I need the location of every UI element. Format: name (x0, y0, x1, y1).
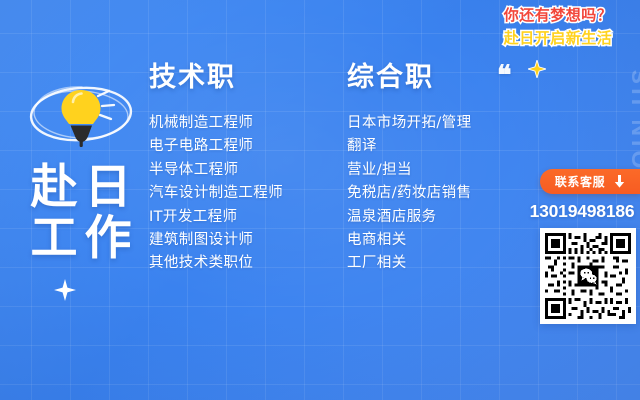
list-item: 机械制造工程师 (149, 112, 283, 135)
arrow-down-icon (614, 175, 625, 188)
list-item: 免税店/药妆店销售 (347, 182, 472, 205)
brand-title-line-2: 工作 (16, 213, 146, 264)
brand-block: 赴日 工作 (16, 78, 146, 264)
sparkle-white-icon (54, 279, 76, 301)
join-us-watermark: JOIN US (627, 65, 640, 185)
list-item: 其他技术类职位 (149, 252, 283, 275)
column-general: 综合职 日本市场开拓/管理 翻译 营业/担当 免税店/药妆店销售 温泉酒店服务 … (347, 62, 472, 276)
contact-panel: 联系客服 13019498186 (528, 169, 640, 324)
poster-canvas: JOIN US 你还有梦想吗？ 赴日开启新生活 ❝ (0, 0, 640, 400)
column-technical-heading: 技术职 (149, 62, 283, 93)
list-item: 工厂相关 (347, 252, 472, 275)
column-general-list: 日本市场开拓/管理 翻译 营业/担当 免税店/药妆店销售 温泉酒店服务 电商相关… (347, 112, 472, 276)
sparkle-yellow-icon (528, 60, 546, 78)
list-item: 电商相关 (347, 229, 472, 252)
slogan-line-2: 赴日开启新生活 (488, 28, 628, 48)
brand-title-line-1: 赴日 (16, 162, 146, 213)
list-item: 半导体工程师 (149, 159, 283, 182)
lightbulb-icon (20, 78, 142, 150)
list-item: 翻译 (347, 135, 472, 158)
list-item: 汽车设计制造工程师 (149, 182, 283, 205)
list-item: IT开发工程师 (149, 206, 283, 229)
page-title: 赴日 工作 (16, 162, 146, 264)
list-item: 营业/担当 (347, 159, 472, 182)
contact-service-button[interactable]: 联系客服 (540, 169, 640, 194)
contact-service-label: 联系客服 (555, 173, 605, 190)
column-general-heading: 综合职 (347, 62, 472, 93)
slogan-block: 你还有梦想吗？ 赴日开启新生活 (488, 5, 628, 48)
quote-mark-icon: ❝ (497, 60, 513, 91)
list-item: 建筑制图设计师 (149, 229, 283, 252)
slogan-line-1: 你还有梦想吗？ (488, 5, 628, 25)
qr-code-wechat[interactable] (540, 228, 636, 324)
contact-phone-number: 13019498186 (528, 201, 636, 222)
list-item: 电子电路工程师 (149, 135, 283, 158)
list-item: 日本市场开拓/管理 (347, 112, 472, 135)
list-item: 温泉酒店服务 (347, 206, 472, 229)
column-technical: 技术职 机械制造工程师 电子电路工程师 半导体工程师 汽车设计制造工程师 IT开… (149, 62, 283, 276)
column-technical-list: 机械制造工程师 电子电路工程师 半导体工程师 汽车设计制造工程师 IT开发工程师… (149, 112, 283, 276)
